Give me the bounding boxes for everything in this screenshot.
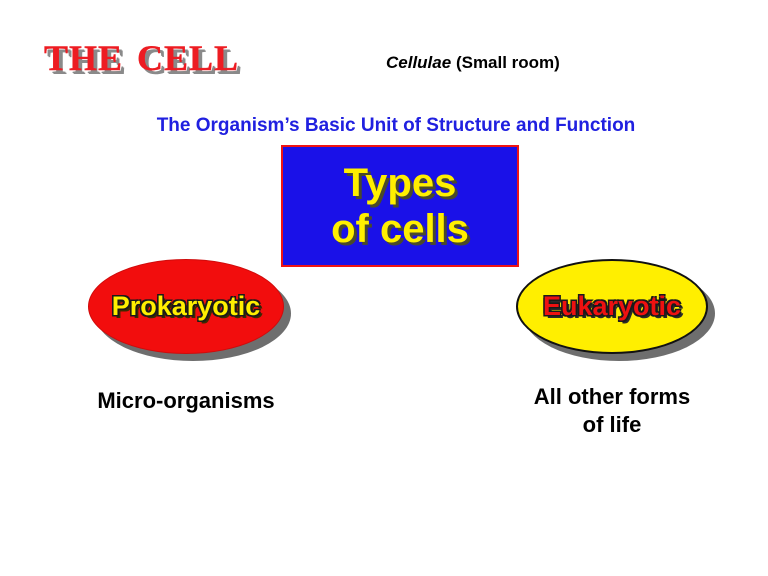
types-box-line1: Types bbox=[344, 160, 457, 206]
eukaryotic-ellipse: Eukaryotic bbox=[516, 259, 708, 354]
latin-word: Cellulae bbox=[386, 53, 451, 72]
latin-meaning: (Small room) bbox=[456, 53, 560, 72]
slide-canvas: The Cell Cellulae (Small room) The Organ… bbox=[0, 0, 768, 576]
subtitle: The Organism’s Basic Unit of Structure a… bbox=[0, 115, 768, 137]
prokaryotic-caption: Micro-organisms bbox=[46, 387, 326, 415]
types-box-line2: of cells bbox=[331, 206, 469, 252]
page-title: The Cell bbox=[44, 26, 239, 82]
prokaryotic-ellipse: Prokaryotic bbox=[88, 259, 284, 354]
latin-gloss: Cellulae (Small room) bbox=[386, 53, 560, 73]
eukaryotic-caption-line1: All other forms bbox=[492, 383, 732, 411]
prokaryotic-label: Prokaryotic bbox=[112, 291, 261, 322]
eukaryotic-caption: All other forms of life bbox=[492, 383, 732, 439]
types-of-cells-box: Types of cells bbox=[281, 145, 519, 267]
eukaryotic-caption-line2: of life bbox=[492, 411, 732, 439]
eukaryotic-label: Eukaryotic bbox=[543, 291, 681, 322]
